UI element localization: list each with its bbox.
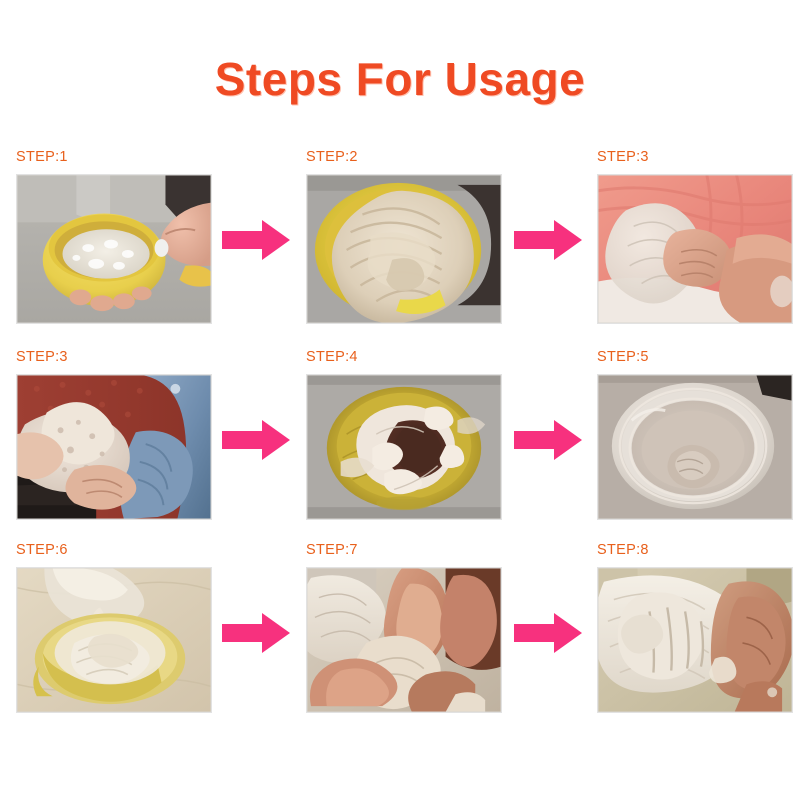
photo-step-7 bbox=[306, 567, 502, 713]
arrow-right-1-icon bbox=[220, 216, 292, 264]
step-label-1: STEP:1 bbox=[16, 150, 212, 166]
arrow-right-6-icon bbox=[512, 609, 584, 657]
photo-step-6 bbox=[16, 567, 212, 713]
step-cell-5: STEP:4 bbox=[306, 350, 502, 520]
photo-step-3b-art bbox=[17, 375, 211, 519]
step-label-9: STEP:8 bbox=[597, 543, 793, 559]
step-cell-3: STEP:3 bbox=[597, 150, 793, 324]
photo-step-5 bbox=[597, 374, 793, 520]
photo-step-5-art bbox=[598, 375, 792, 519]
arrow-right-5-icon bbox=[220, 609, 292, 657]
arrow-right-4 bbox=[512, 416, 584, 464]
step-label-2: STEP:2 bbox=[306, 150, 502, 166]
photo-step-3b bbox=[16, 374, 212, 520]
steps-row-3: STEP:6 bbox=[0, 543, 800, 736]
photo-step-6-art bbox=[17, 568, 211, 712]
step-cell-8: STEP:7 bbox=[306, 543, 502, 713]
step-cell-2: STEP:2 bbox=[306, 150, 502, 324]
step-cell-6: STEP:5 bbox=[597, 350, 793, 520]
arrow-right-4-icon bbox=[512, 416, 584, 464]
step-label-4: STEP:3 bbox=[16, 350, 212, 366]
arrow-right-6 bbox=[512, 609, 584, 657]
photo-step-3-art bbox=[598, 175, 792, 323]
arrow-right-2 bbox=[512, 216, 584, 264]
arrow-right-2-icon bbox=[512, 216, 584, 264]
step-label-7: STEP:6 bbox=[16, 543, 212, 559]
steps-for-usage-infographic: Steps For Usage STEP:1 bbox=[0, 0, 800, 800]
step-label-3: STEP:3 bbox=[597, 150, 793, 166]
step-label-5: STEP:4 bbox=[306, 350, 502, 366]
photo-step-4-art bbox=[307, 375, 501, 519]
steps-grid: STEP:1 bbox=[0, 150, 800, 736]
arrow-right-3-icon bbox=[220, 416, 292, 464]
photo-step-2 bbox=[306, 174, 502, 324]
arrow-right-3 bbox=[220, 416, 292, 464]
page-title: Steps For Usage bbox=[0, 52, 800, 106]
step-label-6: STEP:5 bbox=[597, 350, 793, 366]
photo-step-7-art bbox=[307, 568, 501, 712]
photo-step-2-art bbox=[307, 175, 501, 323]
step-cell-7: STEP:6 bbox=[16, 543, 212, 713]
steps-row-1: STEP:1 bbox=[0, 150, 800, 350]
photo-step-8 bbox=[597, 567, 793, 713]
step-label-8: STEP:7 bbox=[306, 543, 502, 559]
step-cell-1: STEP:1 bbox=[16, 150, 212, 324]
photo-step-1 bbox=[16, 174, 212, 324]
photo-step-1-art bbox=[17, 175, 211, 323]
step-cell-4: STEP:3 bbox=[16, 350, 212, 520]
arrow-right-5 bbox=[220, 609, 292, 657]
step-cell-9: STEP:8 bbox=[597, 543, 793, 713]
photo-step-3 bbox=[597, 174, 793, 324]
steps-row-2: STEP:3 bbox=[0, 350, 800, 543]
photo-step-4 bbox=[306, 374, 502, 520]
arrow-right-1 bbox=[220, 216, 292, 264]
photo-step-8-art bbox=[598, 568, 792, 712]
